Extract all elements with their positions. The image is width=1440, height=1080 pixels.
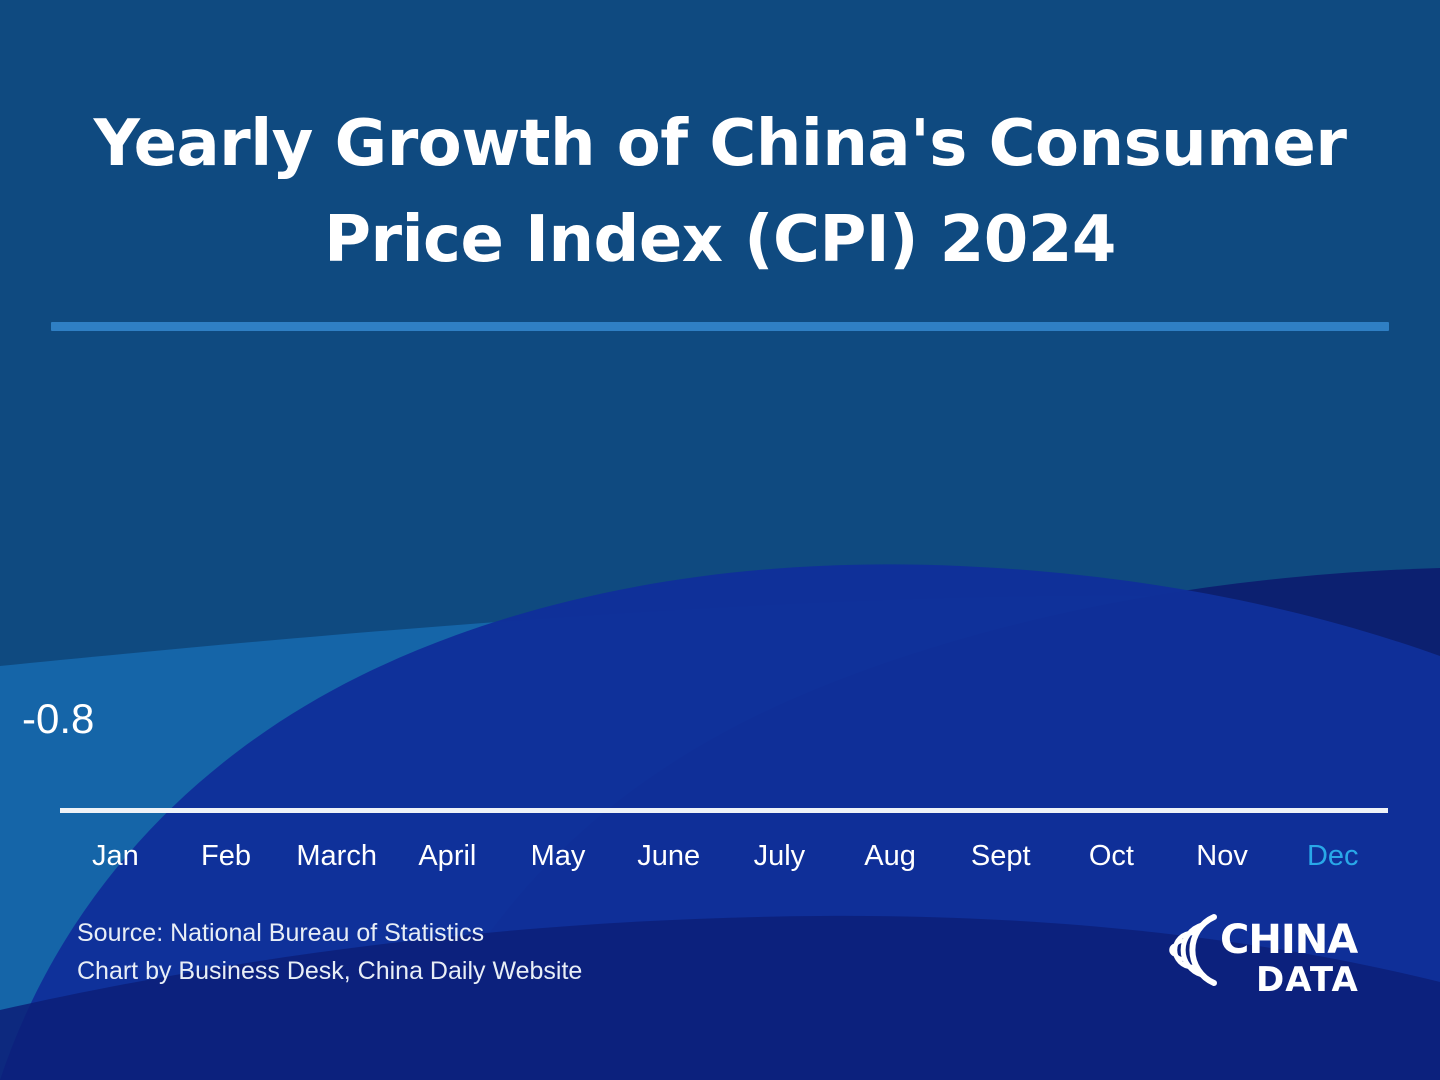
axis-tick-dec: Dec (1277, 828, 1388, 884)
source-text: Source: National Bureau of Statistics (77, 914, 582, 952)
x-axis-line (60, 808, 1388, 813)
axis-tick-april: April (392, 828, 503, 884)
data-label-jan: -0.8 (22, 694, 94, 744)
chart-title: Yearly Growth of China's Consumer Price … (0, 96, 1440, 288)
plot-area: -0.8 (0, 360, 1440, 810)
source-attribution: Source: National Bureau of Statistics Ch… (77, 914, 582, 990)
signal-arcs-icon: CHINA DATA (1168, 903, 1378, 998)
axis-tick-june: June (613, 828, 724, 884)
axis-tick-nov: Nov (1167, 828, 1278, 884)
x-axis-tick-labels: Jan Feb March April May June July Aug Se… (60, 828, 1388, 884)
axis-tick-jan: Jan (60, 828, 171, 884)
chart-title-line-1: Yearly Growth of China's Consumer (0, 96, 1440, 192)
china-data-logo: CHINA DATA (1168, 903, 1378, 998)
chart-canvas: Yearly Growth of China's Consumer Price … (0, 0, 1440, 1080)
axis-tick-may: May (503, 828, 614, 884)
logo-name-top: CHINA (1220, 917, 1358, 963)
axis-tick-feb: Feb (171, 828, 282, 884)
axis-tick-oct: Oct (1056, 828, 1167, 884)
credit-text: Chart by Business Desk, China Daily Webs… (77, 952, 582, 990)
axis-tick-march: March (281, 828, 392, 884)
logo-name-bottom: DATA (1256, 960, 1359, 998)
axis-tick-july: July (724, 828, 835, 884)
axis-tick-sept: Sept (945, 828, 1056, 884)
axis-tick-aug: Aug (835, 828, 946, 884)
title-divider-rule (51, 322, 1389, 331)
chart-title-line-2: Price Index (CPI) 2024 (0, 192, 1440, 288)
